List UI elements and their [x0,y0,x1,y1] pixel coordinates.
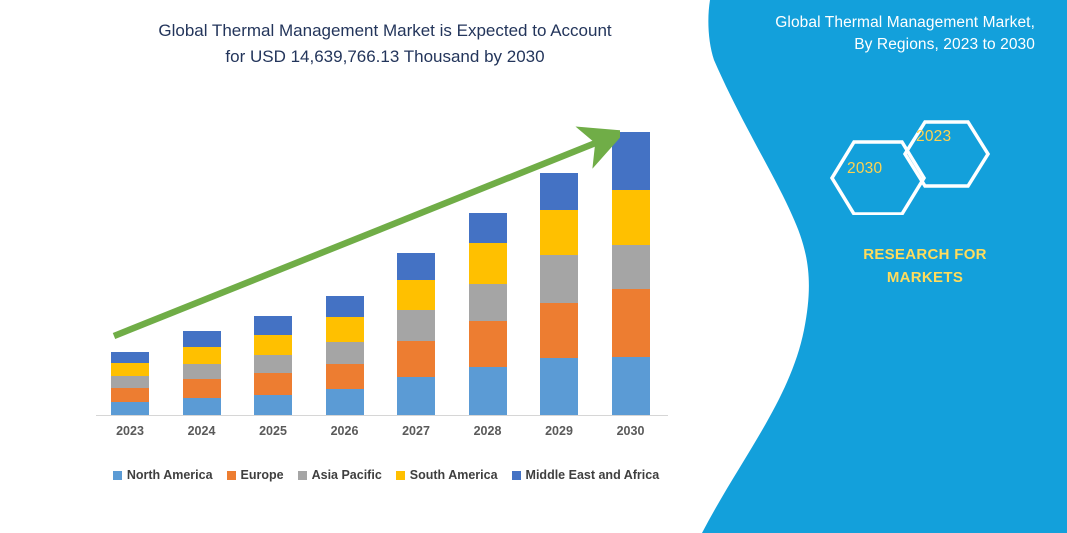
brand-line1: RESEARCH FOR [863,246,987,263]
legend-swatch [396,471,405,480]
bar-segment[interactable] [254,373,292,394]
legend-label: South America [410,468,498,482]
legend-item-asia-pacific[interactable]: Asia Pacific [298,468,382,482]
bar-segment[interactable] [540,210,578,255]
chart-title-line2: for USD 14,639,766.13 Thousand by 2030 [100,44,670,70]
bar-segment[interactable] [397,310,435,341]
bar-segment[interactable] [326,342,364,364]
bar-segment[interactable] [254,395,292,416]
stacked-bar-2027[interactable] [397,253,435,416]
stacked-bar-plot-area [96,90,671,416]
stacked-bar-2030[interactable] [612,132,650,416]
bar-segment[interactable] [326,389,364,417]
stacked-bar-2024[interactable] [183,331,221,416]
x-axis-label-2027: 2027 [386,424,446,438]
infographic-canvas: Global Thermal Management Market, By Reg… [0,0,1067,533]
stacked-bar-2029[interactable] [540,173,578,416]
legend-label: Middle East and Africa [526,468,660,482]
bar-segment[interactable] [469,284,507,322]
x-axis-label-2023: 2023 [100,424,160,438]
bar-segment[interactable] [469,243,507,284]
bar-segment[interactable] [111,388,149,402]
legend-swatch [113,471,122,480]
bar-segment[interactable] [612,245,650,289]
bar-segment[interactable] [111,402,149,416]
bar-segment[interactable] [254,335,292,355]
hexagon-badge-group: 2023 2030 [820,100,990,215]
legend-swatch [227,471,236,480]
x-axis-label-2030: 2030 [601,424,661,438]
stacked-bar-2026[interactable] [326,296,364,416]
panel-title-line2: By Regions, 2023 to 2030 [735,34,1035,56]
stacked-bar-2028[interactable] [469,213,507,416]
bar-segment[interactable] [326,296,364,317]
bar-segment[interactable] [254,355,292,373]
bar-segment[interactable] [397,377,435,416]
bar-segment[interactable] [183,398,221,416]
bar-segment[interactable] [612,132,650,190]
bar-segment[interactable] [540,255,578,303]
legend-label: North America [127,468,213,482]
x-axis-label-2025: 2025 [243,424,303,438]
brand-wordmark: RESEARCH FOR MARKETS [785,244,1065,289]
legend-item-north-america[interactable]: North America [113,468,213,482]
bar-segment[interactable] [612,357,650,416]
bar-segment[interactable] [469,213,507,243]
bar-segment[interactable] [612,289,650,357]
legend-item-south-america[interactable]: South America [396,468,498,482]
bar-segment[interactable] [540,303,578,358]
legend-label: Europe [241,468,284,482]
x-axis-label-2026: 2026 [315,424,375,438]
legend-item-europe[interactable]: Europe [227,468,284,482]
x-axis-label-2029: 2029 [529,424,589,438]
legend-label: Asia Pacific [312,468,382,482]
x-axis-label-2024: 2024 [172,424,232,438]
bar-segment[interactable] [397,341,435,378]
bar-segment[interactable] [183,331,221,346]
chart-title-line1: Global Thermal Management Market is Expe… [158,21,611,40]
bar-segment[interactable] [183,347,221,364]
bar-segment[interactable] [397,280,435,311]
hex-badge-label-2023: 2023 [916,128,951,146]
bar-segment[interactable] [540,173,578,211]
bar-segment[interactable] [469,321,507,367]
bar-segment[interactable] [183,364,221,379]
bar-segment[interactable] [183,379,221,397]
bar-segment[interactable] [540,358,578,416]
x-axis-line [96,415,668,416]
stacked-bar-2025[interactable] [254,316,292,416]
bar-segment[interactable] [254,316,292,334]
bar-segment[interactable] [612,190,650,245]
chart-title: Global Thermal Management Market is Expe… [100,18,670,71]
legend-item-middle-east-and-africa[interactable]: Middle East and Africa [512,468,660,482]
chart-legend: North AmericaEuropeAsia PacificSouth Ame… [100,468,672,482]
legend-swatch [298,471,307,480]
bar-segment[interactable] [326,364,364,388]
bar-segment[interactable] [326,317,364,341]
panel-title: Global Thermal Management Market, By Reg… [735,12,1035,57]
brand-line2: MARKETS [785,267,1065,290]
bar-segment[interactable] [111,363,149,376]
bar-segment[interactable] [469,367,507,416]
bar-segment[interactable] [397,253,435,279]
x-axis-tick-labels: 20232024202520262027202820292030 [96,424,668,444]
legend-swatch [512,471,521,480]
stacked-bar-2023[interactable] [111,352,149,416]
panel-title-line1: Global Thermal Management Market, [775,14,1035,31]
bar-segment[interactable] [111,376,149,387]
hex-badge-label-2030: 2030 [847,160,882,178]
x-axis-label-2028: 2028 [458,424,518,438]
hex-2030-outline [832,142,924,214]
bar-segment[interactable] [111,352,149,363]
